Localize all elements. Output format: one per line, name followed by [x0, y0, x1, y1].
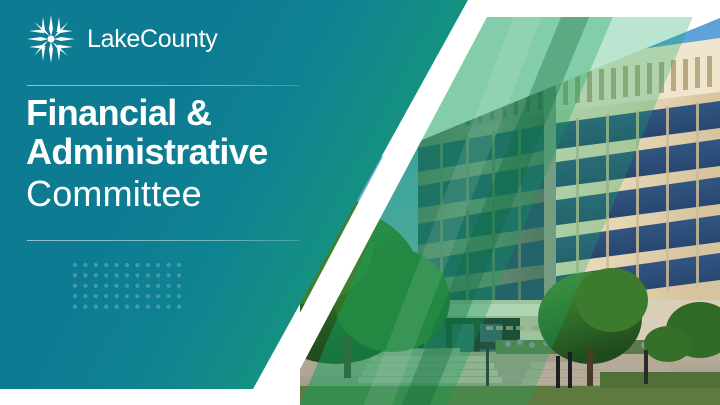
page-title: Financial & Administrative Committee — [26, 94, 356, 216]
brand-logo[interactable]: LakeCounty — [26, 14, 217, 64]
dot-grid-decoration — [72, 262, 188, 312]
divider-rule-top — [27, 85, 299, 86]
title-line-3: Committee — [26, 173, 356, 215]
slide-canvas: LakeCounty Financial & Administrative Co… — [0, 0, 720, 405]
title-line-2: Administrative — [26, 133, 356, 172]
title-line-1: Financial & — [26, 94, 356, 133]
lakecounty-starburst-icon — [26, 14, 76, 64]
divider-rule-bottom — [27, 240, 299, 241]
brand-wordmark: LakeCounty — [87, 27, 217, 52]
